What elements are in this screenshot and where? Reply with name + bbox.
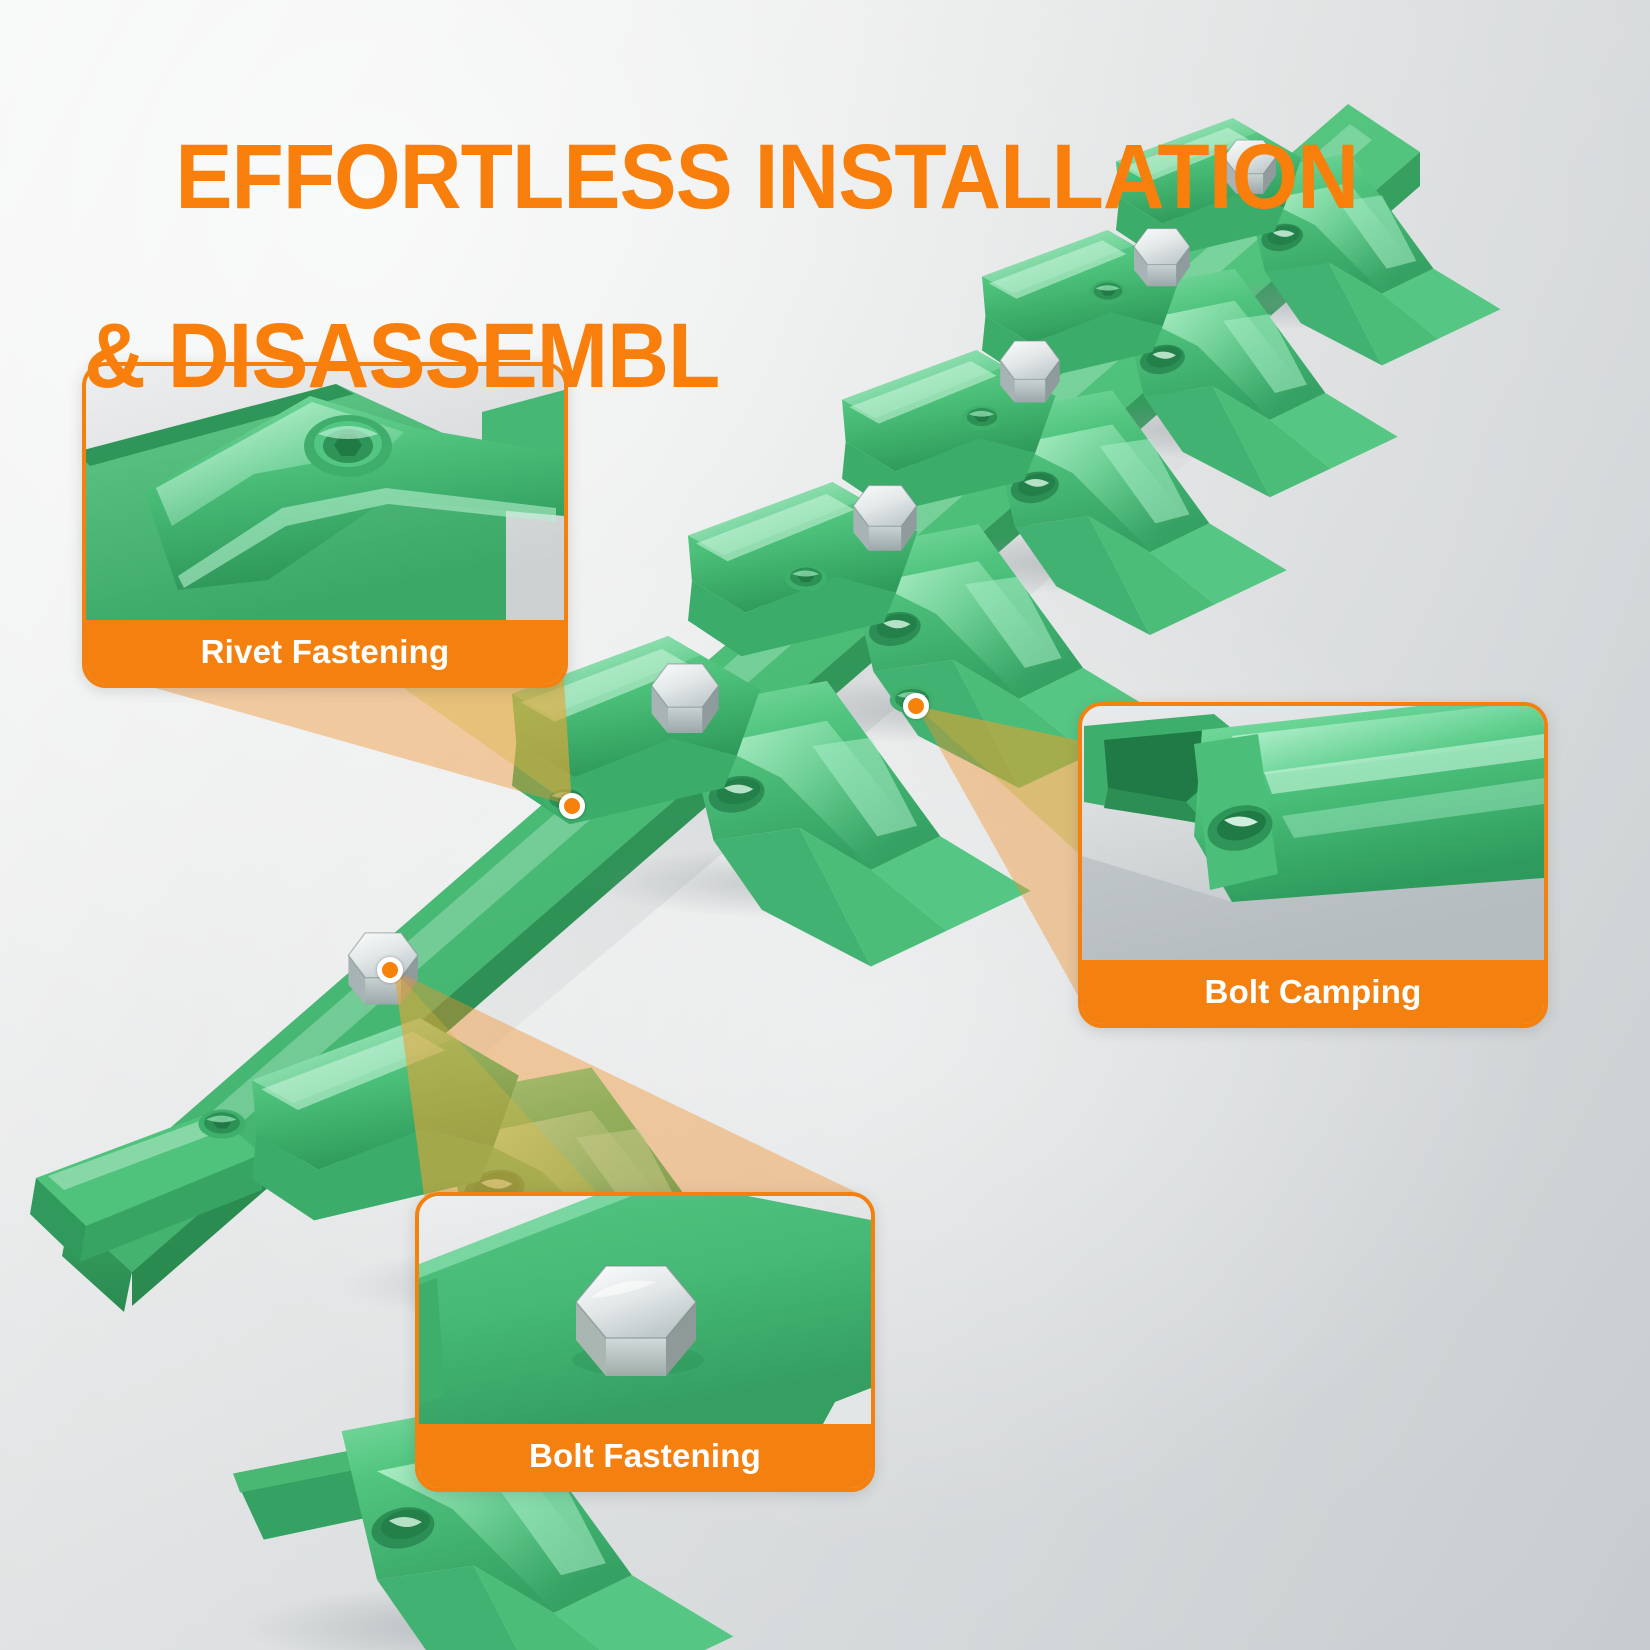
callout-label-bolt-fastening: Bolt Fastening (529, 1437, 761, 1475)
anchor-dot-bolt-camping (903, 693, 929, 719)
title-line-1: EFFORTLESS INSTALLATION (175, 126, 1358, 228)
callout-photo-bolt-camping (1082, 706, 1544, 960)
title-line-2: & DISASSEMBL (84, 312, 1358, 401)
hex-bolt-icon (652, 664, 719, 733)
callout-label-rivet: Rivet Fastening (201, 633, 450, 671)
callout-band-rivet: Rivet Fastening (86, 620, 564, 684)
page-title: EFFORTLESS INSTALLATION & DISASSEMBL (84, 44, 1358, 579)
anchor-dot-rivet (559, 793, 585, 819)
callout-band-bolt-fastening: Bolt Fastening (419, 1424, 871, 1488)
callout-card-bolt-camping[interactable]: Bolt Camping (1078, 702, 1548, 1028)
callout-card-bolt-fastening[interactable]: Bolt Fastening (415, 1192, 875, 1492)
anchor-dot-bolt-fastening (377, 957, 403, 983)
rivet-icon (198, 1109, 245, 1138)
infographic-canvas: EFFORTLESS INSTALLATION & DISASSEMBL (0, 0, 1650, 1650)
callout-photo-bolt-fastening (419, 1196, 871, 1424)
callout-label-bolt-camping: Bolt Camping (1205, 973, 1422, 1011)
callout-band-bolt-camping: Bolt Camping (1082, 960, 1544, 1024)
